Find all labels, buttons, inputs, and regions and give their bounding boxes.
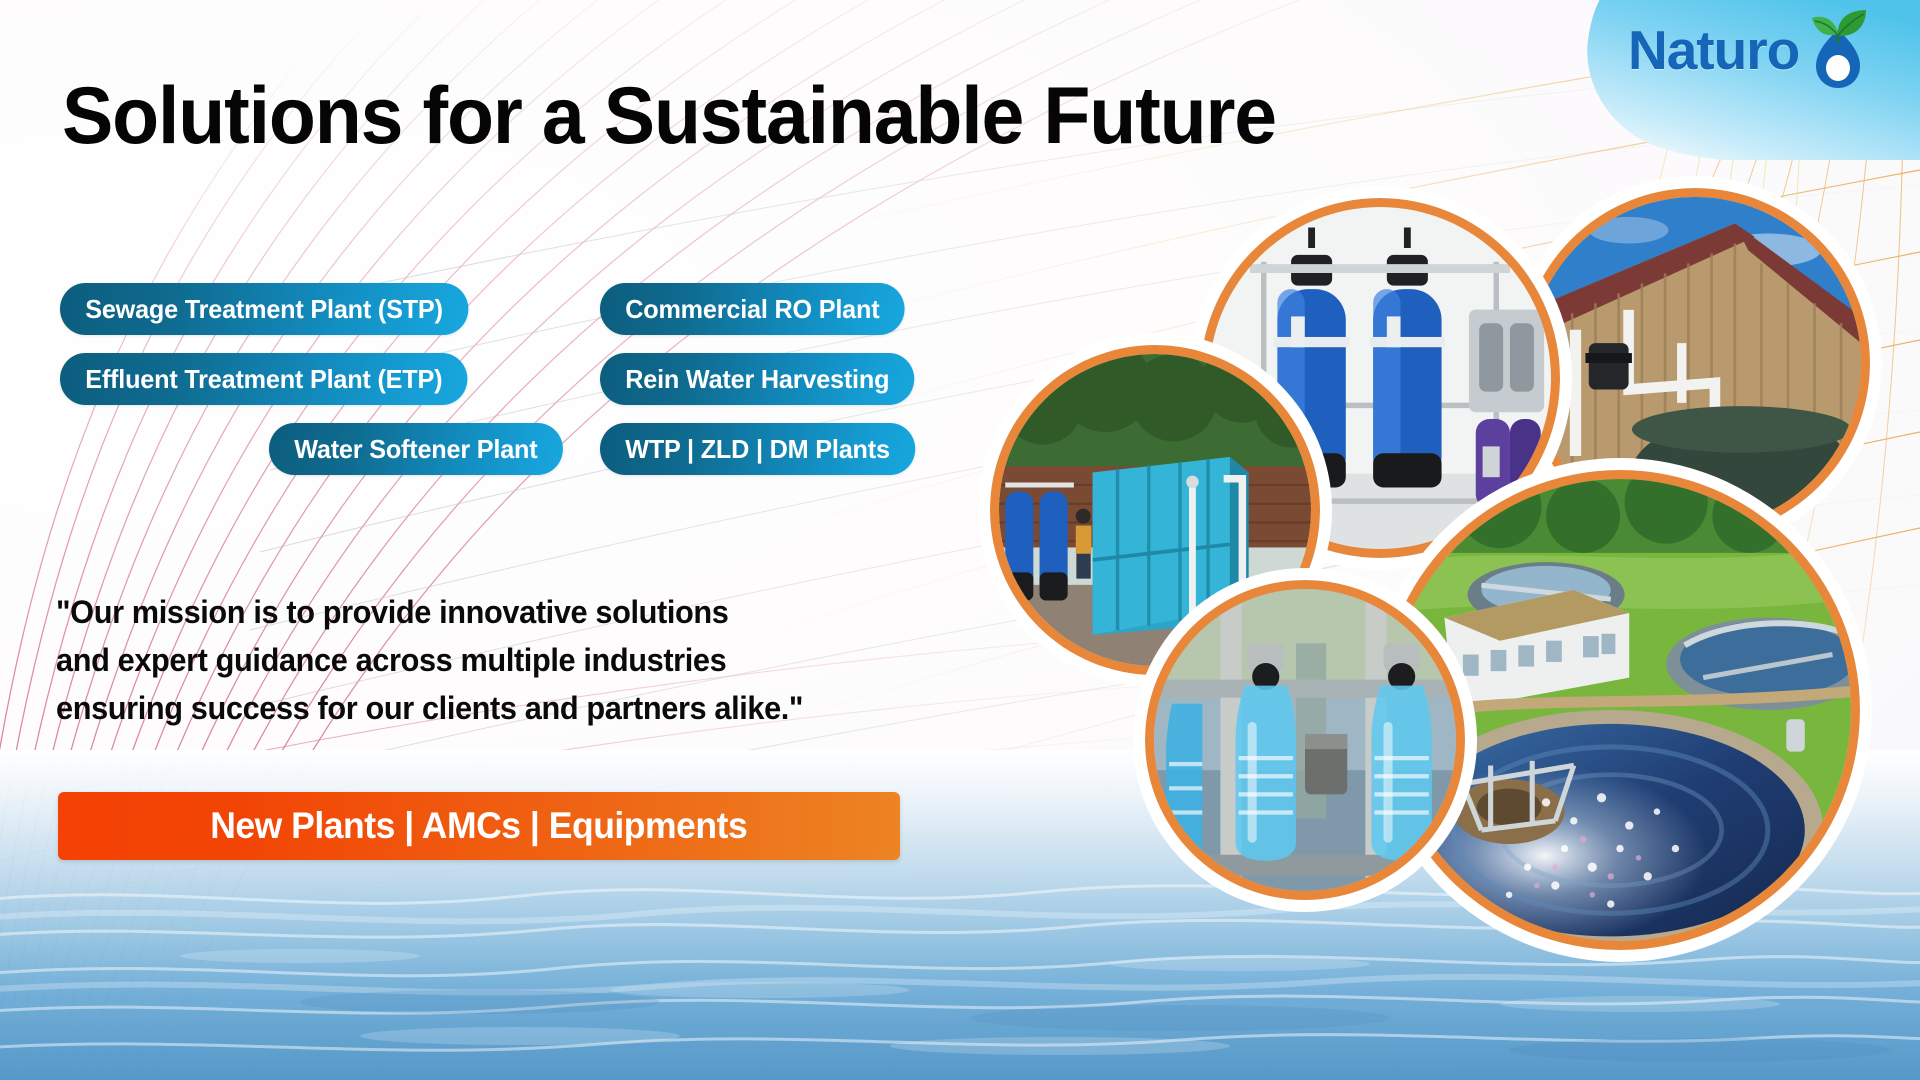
marketing-banner: Solutions for a Sustainable Future Sewag…: [0, 0, 1920, 1080]
leaf-waterdrop-icon: [1798, 8, 1872, 94]
mission-quote-line-1: "Our mission is to provide innovative so…: [56, 588, 920, 636]
service-pill-row: Effluent Treatment Plant (ETP) Rein Wate…: [60, 353, 1060, 405]
service-pill-water-softener[interactable]: Water Softener Plant: [269, 423, 563, 475]
logo-wordmark: Naturo: [1628, 18, 1799, 82]
service-pill-row: Water Softener Plant WTP | ZLD | DM Plan…: [60, 423, 1060, 475]
service-pill-wtp-zld-dm[interactable]: WTP | ZLD | DM Plants: [600, 423, 915, 475]
mission-quote: "Our mission is to provide innovative so…: [56, 588, 920, 732]
photo-collage: [1000, 180, 1920, 1080]
brand-logo[interactable]: Naturo: [1576, 0, 1920, 160]
cta-button-label: New Plants | AMCs | Equipments: [210, 805, 747, 847]
mission-quote-line-2: and expert guidance across multiple indu…: [56, 636, 920, 684]
service-pill-row: Sewage Treatment Plant (STP) Commercial …: [60, 283, 1060, 335]
service-pill-etp[interactable]: Effluent Treatment Plant (ETP): [60, 353, 468, 405]
mission-quote-line-3: ensuring success for our clients and par…: [56, 684, 920, 732]
service-pill-rainwater-harvesting[interactable]: Rein Water Harvesting: [600, 353, 915, 405]
service-pill-commercial-ro[interactable]: Commercial RO Plant: [600, 283, 905, 335]
bottling-line-photo: [1145, 580, 1465, 900]
service-pill-stp[interactable]: Sewage Treatment Plant (STP): [60, 283, 468, 335]
cta-button[interactable]: New Plants | AMCs | Equipments: [58, 792, 900, 860]
page-title: Solutions for a Sustainable Future: [62, 76, 1276, 157]
service-pill-grid: Sewage Treatment Plant (STP) Commercial …: [60, 283, 1060, 493]
